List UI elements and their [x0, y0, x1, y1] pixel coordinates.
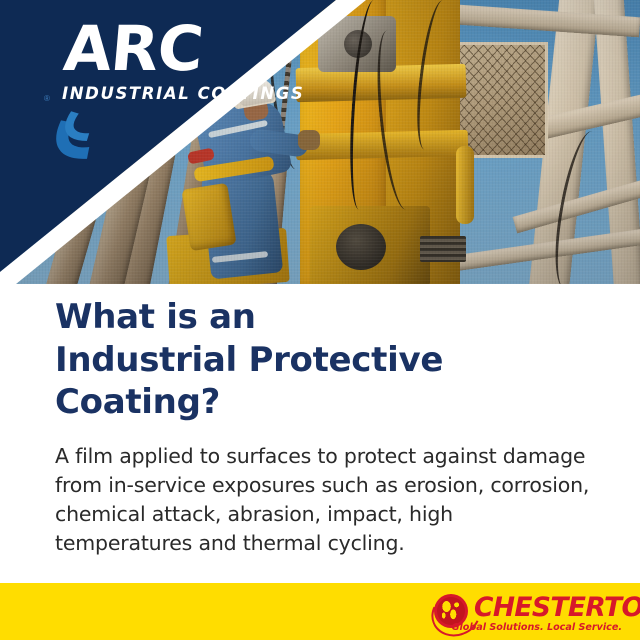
- headline-line-1: What is an: [55, 296, 595, 339]
- content-block: What is an Industrial Protective Coating…: [55, 296, 595, 558]
- registered-trademark-icon: ®: [44, 94, 50, 103]
- hero-banner: ARC INDUSTRIAL COATINGS ®: [0, 0, 640, 284]
- headline-line-2: Industrial Protective Coating?: [55, 339, 595, 424]
- page-title: What is an Industrial Protective Coating…: [55, 296, 595, 424]
- arc-wordmark: ARC: [61, 18, 205, 80]
- chesterton-tagline: Global Solutions. Local Service.: [452, 622, 622, 633]
- chesterton-name: CHESTERTON: [474, 592, 640, 623]
- marketing-card: ARC INDUSTRIAL COATINGS ® What is an Ind…: [0, 0, 640, 640]
- body-paragraph: A film applied to surfaces to protect ag…: [55, 442, 595, 558]
- footer-bar: CHESTERTON® Global Solutions. Local Serv…: [0, 583, 640, 640]
- arc-logo-tagline: INDUSTRIAL COATINGS: [62, 84, 304, 103]
- chesterton-wordmark: CHESTERTON®: [474, 592, 640, 623]
- arc-logo[interactable]: ARC INDUSTRIAL COATINGS ®: [40, 22, 230, 114]
- chesterton-logo[interactable]: CHESTERTON® Global Solutions. Local Serv…: [434, 590, 624, 634]
